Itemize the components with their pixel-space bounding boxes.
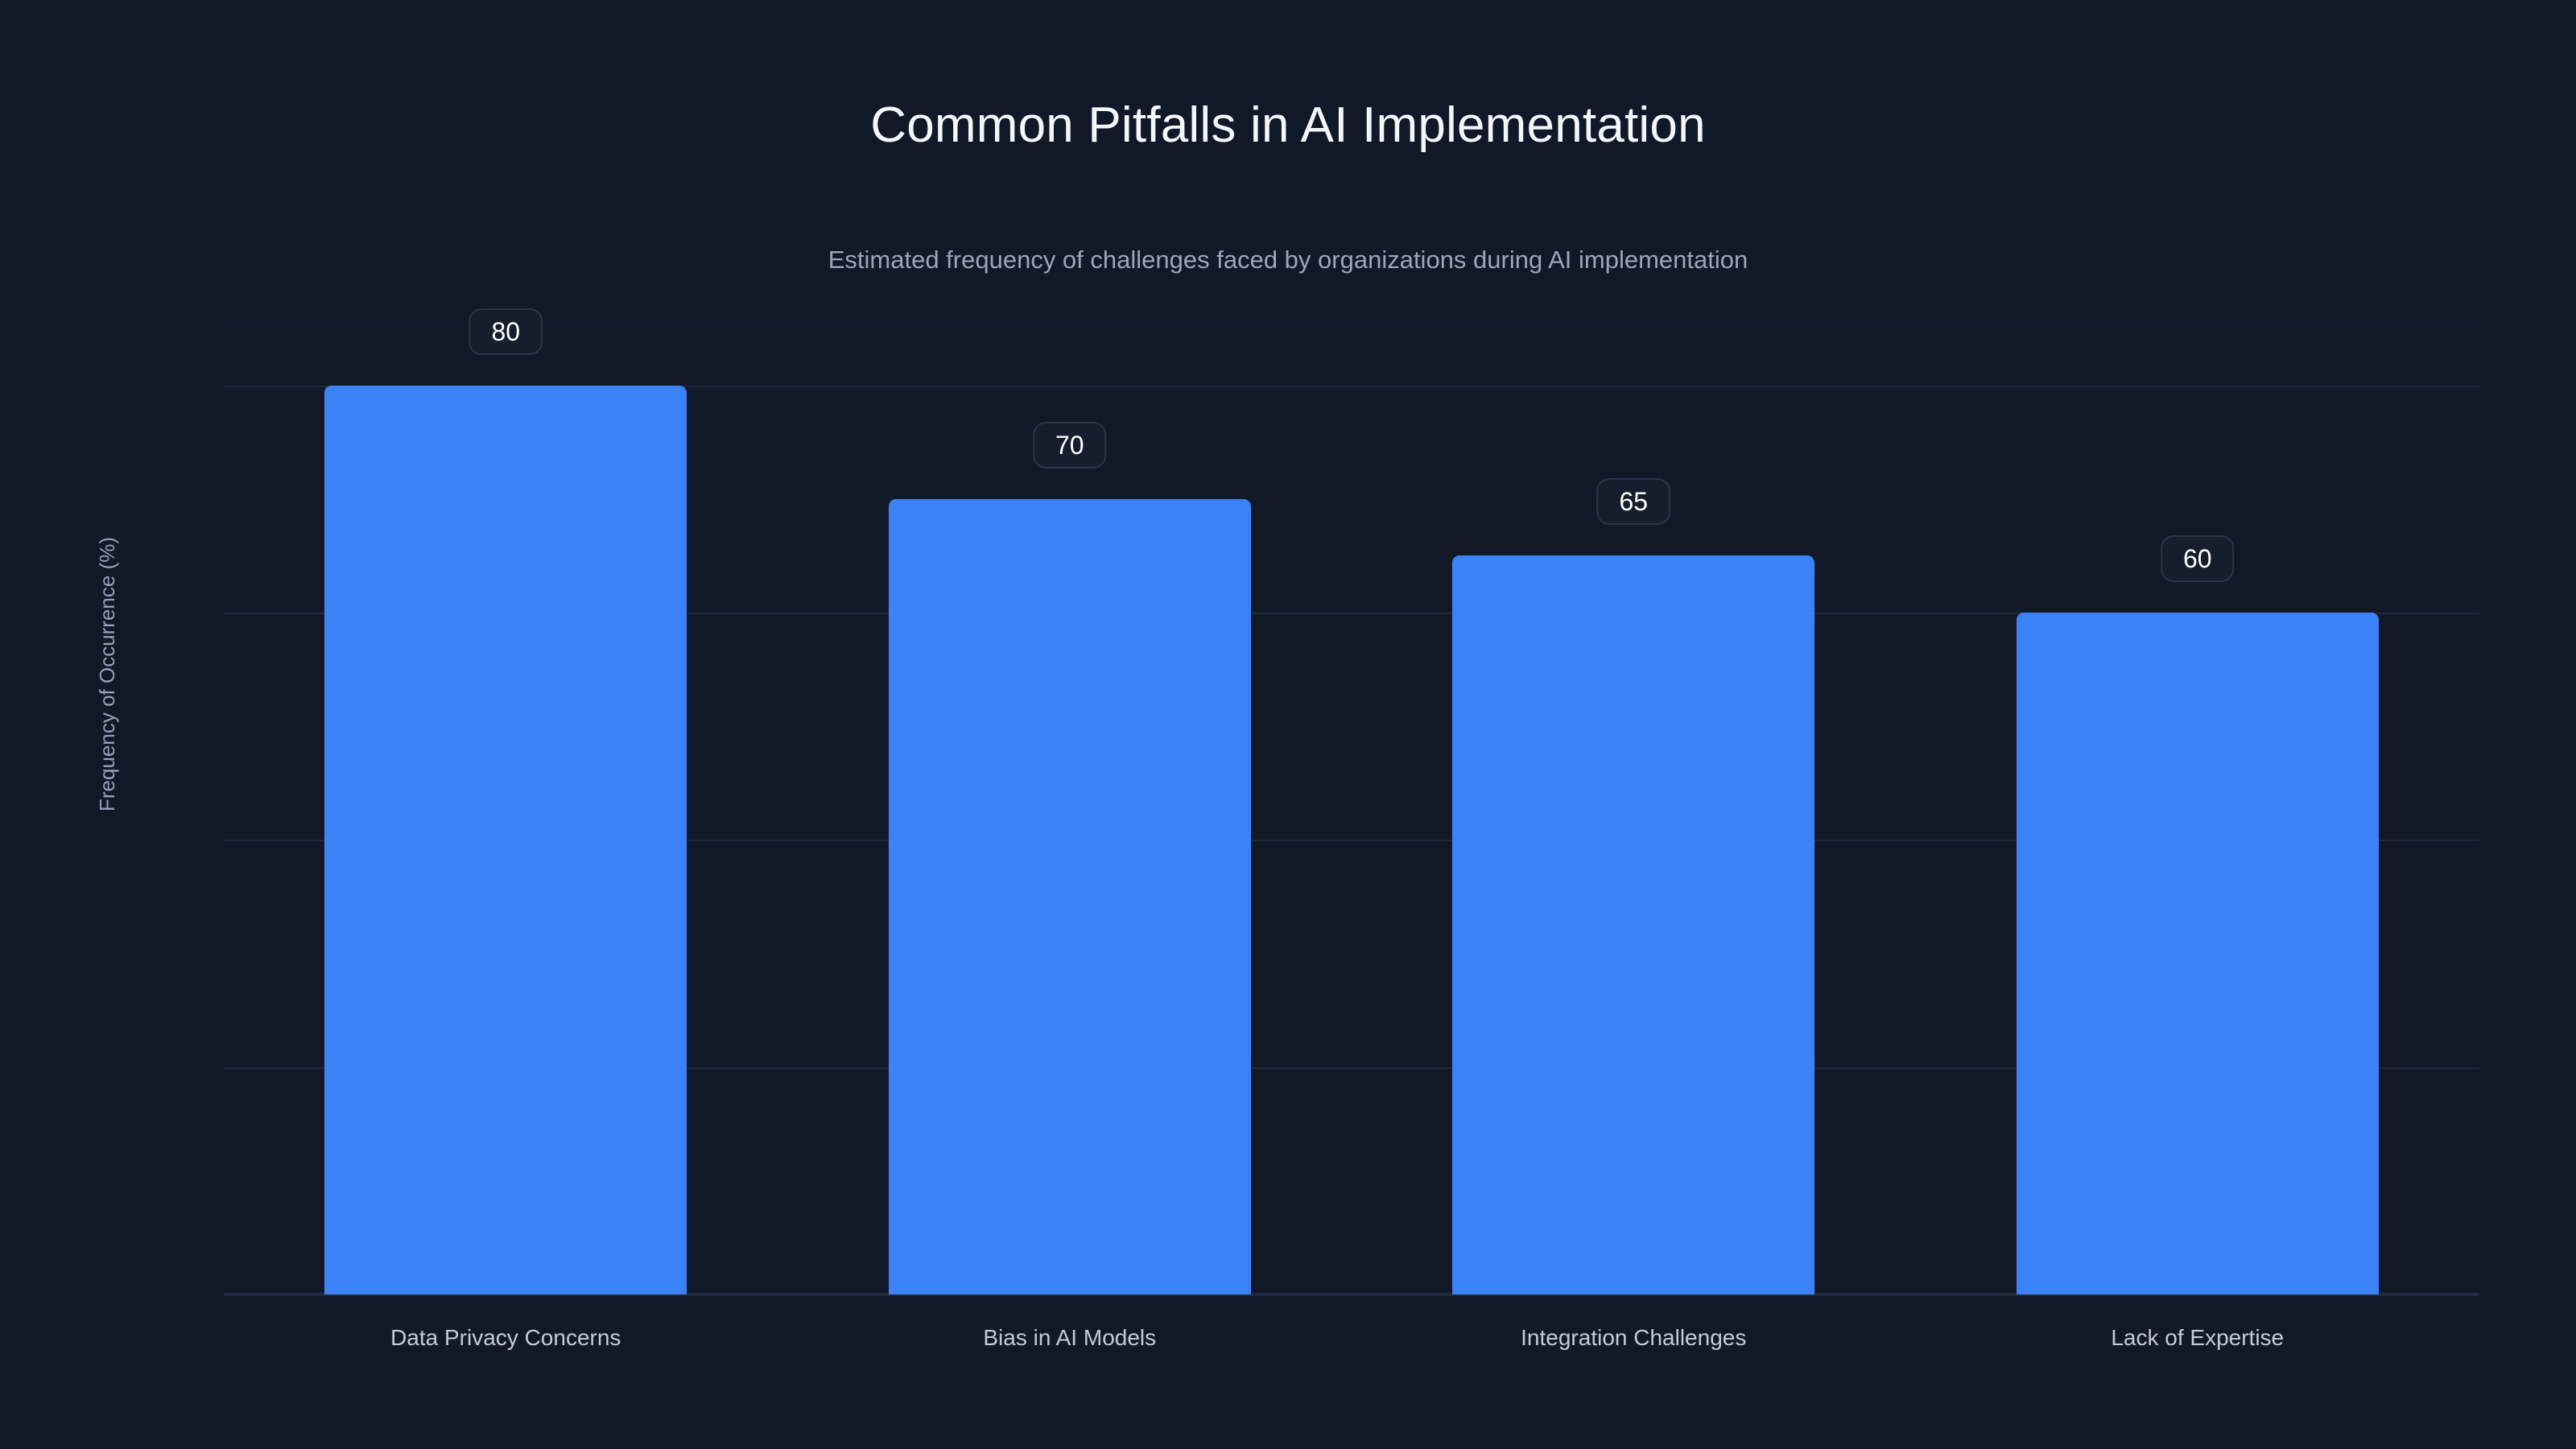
bar[interactable] bbox=[889, 499, 1251, 1294]
bar[interactable] bbox=[1452, 555, 1814, 1294]
chart-title: Common Pitfalls in AI Implementation bbox=[0, 97, 2576, 154]
bar-value-label: 65 bbox=[1596, 478, 1670, 525]
chart-canvas: Common Pitfalls in AI Implementation Est… bbox=[0, 0, 2576, 1449]
x-axis-tick-label: Integration Challenges bbox=[1521, 1325, 1746, 1351]
bar-value-label: 70 bbox=[1033, 422, 1107, 469]
y-axis-title: Frequency of Occurrence (%) bbox=[95, 537, 120, 811]
x-axis-tick-label: Data Privacy Concerns bbox=[390, 1325, 621, 1351]
bar-value-label: 80 bbox=[469, 308, 543, 355]
x-axis-tick-label: Bias in AI Models bbox=[983, 1325, 1156, 1351]
chart-subtitle: Estimated frequency of challenges faced … bbox=[0, 246, 2576, 275]
x-axis-tick-label: Lack of Expertise bbox=[2111, 1325, 2284, 1351]
bar[interactable] bbox=[2017, 613, 2379, 1294]
bar[interactable] bbox=[324, 386, 687, 1294]
bar-value-label: 60 bbox=[2161, 535, 2235, 582]
